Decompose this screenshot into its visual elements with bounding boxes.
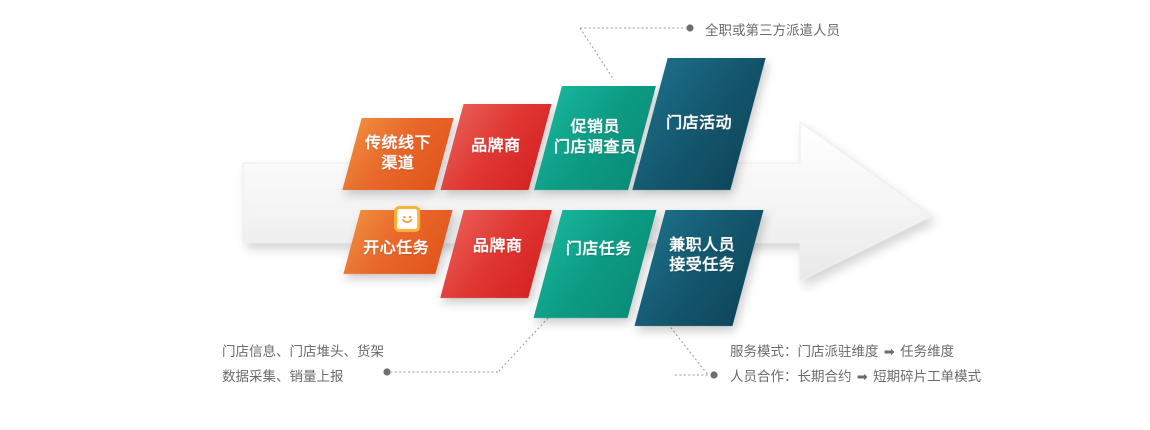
note-store-data-line2: 数据采集、销量上报 xyxy=(222,365,384,390)
note-service-model-line2-prefix: 人员合作：长期合约 xyxy=(730,369,852,384)
right-arrow-glyph: ➡ xyxy=(855,370,870,385)
connector-bottom-left xyxy=(383,318,548,376)
note-service-model-line1-suffix: 任务维度 xyxy=(900,344,954,359)
note-staffing: 全职或第三方派遣人员 xyxy=(705,19,840,44)
note-service-model-line2: 人员合作：长期合约 ➡ 短期碎片工单模式 xyxy=(730,365,981,390)
note-staffing-text: 全职或第三方派遣人员 xyxy=(705,23,840,38)
block-top-traditional-channel[interactable]: 传统线下 渠道 xyxy=(342,118,453,190)
block-label: 品牌商 xyxy=(473,237,523,257)
note-service-model-line1: 服务模式：门店派驻维度 ➡ 任务维度 xyxy=(730,340,981,365)
note-service-model-line1-prefix: 服务模式：门店派驻维度 xyxy=(730,344,879,359)
block-label: 传统线下 渠道 xyxy=(365,134,431,174)
block-label: 品牌商 xyxy=(471,137,521,157)
block-label: 兼职人员 接受任务 xyxy=(669,236,735,276)
smiley-icon xyxy=(394,206,420,232)
connector-bottom-right xyxy=(668,324,718,379)
block-label: 门店活动 xyxy=(666,114,732,134)
note-service-model: 服务模式：门店派驻维度 ➡ 任务维度 人员合作：长期合约 ➡ 短期碎片工单模式 xyxy=(730,340,981,390)
block-label: 开心任务 xyxy=(363,239,429,259)
note-service-model-line2-suffix: 短期碎片工单模式 xyxy=(873,369,981,384)
block-bottom-kaixin-task[interactable]: 开心任务 xyxy=(343,210,452,274)
note-store-data: 门店信息、门店堆头、货架 数据采集、销量上报 xyxy=(222,340,384,390)
diagram-canvas: 传统线下 渠道 品牌商 促销员 门店调查员 门店活动 开心任务 品牌商 门店任务… xyxy=(0,0,1150,430)
right-arrow-glyph: ➡ xyxy=(882,345,897,360)
note-store-data-line1: 门店信息、门店堆头、货架 xyxy=(222,340,384,365)
block-label: 促销员 门店调查员 xyxy=(554,118,637,158)
block-label: 门店任务 xyxy=(566,240,632,260)
